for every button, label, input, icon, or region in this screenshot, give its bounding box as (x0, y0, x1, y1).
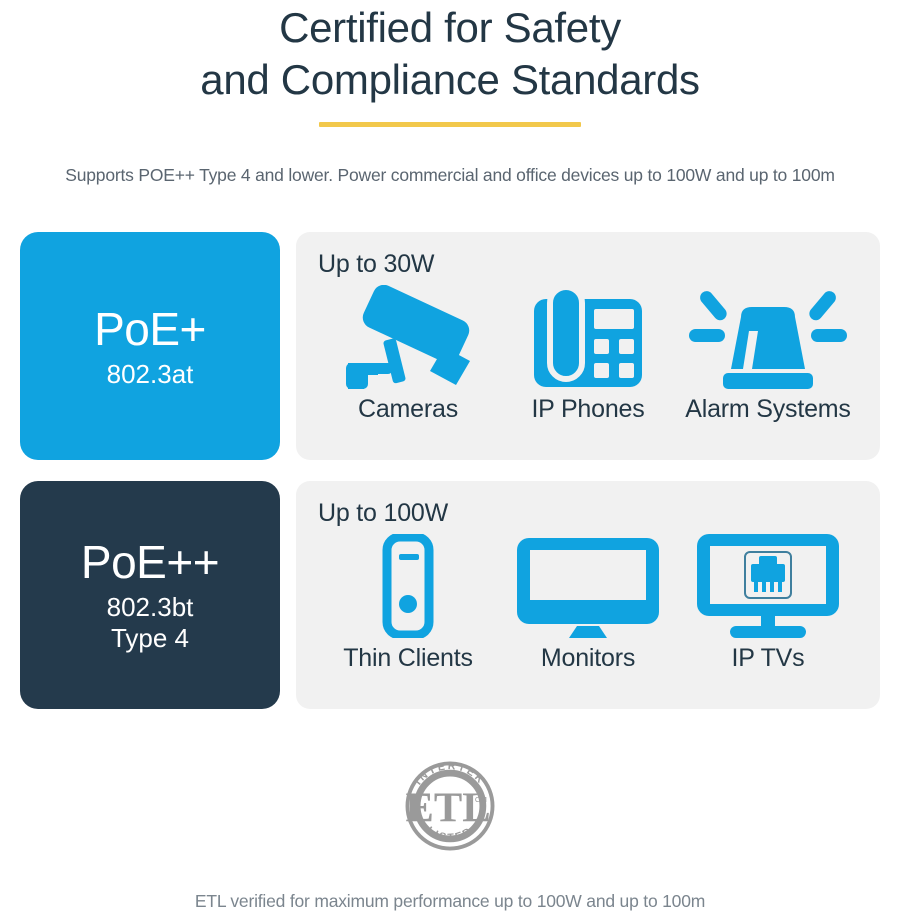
ip-phone-icon (532, 281, 644, 389)
tier-badge-standard-line-2: Type 4 (107, 623, 194, 654)
tier-badge-standard: 802.3bt Type 4 (107, 592, 194, 654)
monitor-icon (517, 530, 659, 638)
device-alarm-systems: Alarm Systems (679, 281, 857, 424)
device-thin-clients: Thin Clients (319, 530, 497, 673)
thin-client-tower-icon (371, 530, 445, 638)
device-icon-row: Thin Clients Monitors (318, 530, 858, 673)
tier-badge-standard: 802.3at (107, 359, 194, 390)
tier-panel-100w: Up to 100W Thin Clients (296, 481, 880, 709)
etl-superscript: CM (475, 795, 487, 804)
tier-row-poe-plus: PoE+ 802.3at Up to 30W (20, 232, 880, 460)
tier-badge-poe-plus: PoE+ 802.3at (20, 232, 280, 460)
security-camera-icon (344, 281, 472, 389)
certification-footer-note: ETL verified for maximum performance up … (195, 891, 705, 912)
tier-panel-30w: Up to 30W (296, 232, 880, 460)
title-accent-rule (319, 122, 581, 127)
certification-section: INTERTEK LISTED ETL CM ETL verified for … (0, 748, 900, 912)
tier-badge-poe-plus-plus: PoE++ 802.3bt Type 4 (20, 481, 280, 709)
alarm-beacon-icon (689, 281, 847, 389)
page-header: Certified for Safety and Compliance Stan… (0, 0, 900, 186)
device-ip-tvs: IP TVs (679, 530, 857, 673)
etl-intertek-listed-mark: INTERTEK LISTED ETL CM (392, 748, 508, 869)
device-label: IP Phones (531, 395, 644, 424)
tier-row-poe-plus-plus: PoE++ 802.3bt Type 4 Up to 100W T (20, 481, 880, 709)
device-icon-row: Cameras IP Phones (318, 281, 858, 424)
page-title-line-2: and Compliance Standards (0, 54, 900, 106)
etl-center-text: ETL (406, 784, 491, 831)
panel-power-title: Up to 100W (318, 499, 858, 528)
page-title-line-1: Certified for Safety (0, 2, 900, 54)
device-label: Alarm Systems (685, 395, 850, 424)
device-label: IP TVs (732, 644, 805, 673)
tier-badge-standard-line-1: 802.3bt (107, 592, 194, 623)
ip-tv-icon (697, 530, 839, 638)
page-subtitle: Supports POE++ Type 4 and lower. Power c… (0, 165, 900, 186)
device-ip-phones: IP Phones (499, 281, 677, 424)
device-cameras: Cameras (319, 281, 497, 424)
tier-badge-title: PoE+ (94, 303, 206, 355)
tier-list: PoE+ 802.3at Up to 30W (20, 232, 880, 730)
device-label: Cameras (358, 395, 458, 424)
panel-power-title: Up to 30W (318, 250, 858, 279)
device-label: Monitors (541, 644, 635, 673)
device-monitors: Monitors (499, 530, 677, 673)
tier-badge-title: PoE++ (81, 536, 219, 588)
device-label: Thin Clients (343, 644, 473, 673)
